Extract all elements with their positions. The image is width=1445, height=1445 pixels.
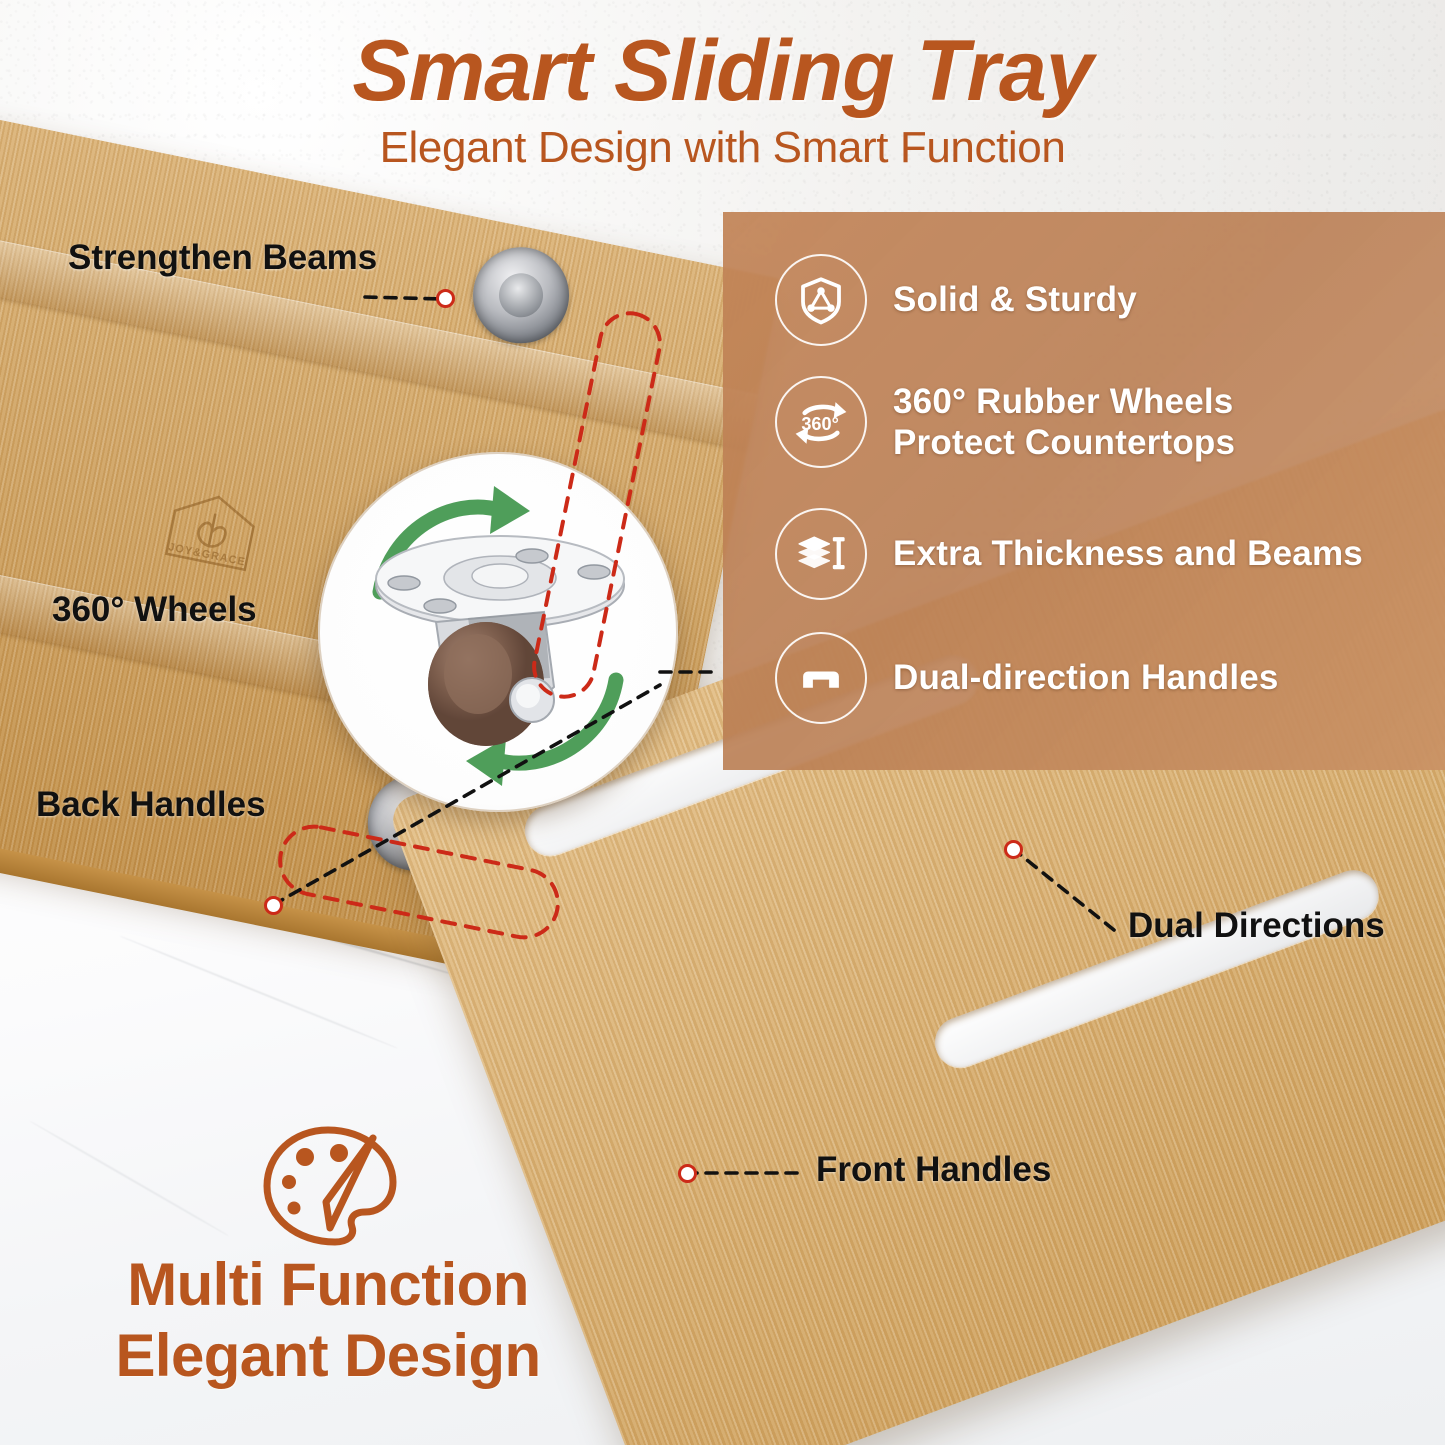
feature-item-solid-sturdy: Solid & Sturdy: [775, 254, 1137, 346]
rotate-360-icon: 360°: [775, 376, 867, 468]
caster-mount-plate: [376, 536, 624, 628]
title-main: Smart Sliding Tray: [0, 22, 1445, 121]
shield-icon: [775, 254, 867, 346]
callout-dual-directions: Dual Directions: [1128, 906, 1385, 946]
callout-wheels-360: 360° Wheels: [52, 590, 257, 630]
layers-thickness-icon: [775, 508, 867, 600]
feature-label: Extra Thickness and Beams: [893, 533, 1363, 574]
footer-line-2: Elegant Design: [48, 1321, 608, 1392]
caster-wheel-top-right: [464, 239, 577, 352]
feature-label: Dual-direction Handles: [893, 657, 1279, 698]
marker-strengthen-beams: [436, 289, 455, 308]
feature-panel: Solid & Sturdy 360° 360° Rubber Wheels P…: [723, 212, 1445, 770]
marker-back-handles: [264, 896, 283, 915]
caster-fork-and-wheel: [428, 612, 554, 746]
feature-item-handles: Dual-direction Handles: [775, 632, 1279, 724]
marker-dual-directions: [1004, 840, 1023, 859]
marker-front-handles: [678, 1164, 697, 1183]
title-subtitle: Elegant Design with Smart Function: [0, 123, 1445, 173]
callout-strengthen-beams: Strengthen Beams: [68, 238, 377, 278]
footer-line-1: Multi Function: [48, 1250, 608, 1321]
brand-engraving: JOY&GRACE: [142, 477, 279, 595]
caster-wheel-magnifier: [318, 452, 678, 812]
callout-front-handles: Front Handles: [816, 1150, 1051, 1190]
palette-icon: [48, 1120, 608, 1250]
handle-icon: [775, 632, 867, 724]
handle-slot-rear: [928, 863, 1386, 1074]
feature-label: 360° Rubber Wheels Protect Countertops: [893, 381, 1235, 464]
infographic-canvas: JOY&GRACE: [0, 0, 1445, 1445]
feature-label: Solid & Sturdy: [893, 279, 1137, 320]
feature-item-360-wheels: 360° 360° Rubber Wheels Protect Countert…: [775, 376, 1235, 468]
feature-item-thickness: Extra Thickness and Beams: [775, 508, 1363, 600]
callout-back-handles: Back Handles: [36, 785, 266, 825]
badge-360-text: 360°: [801, 414, 838, 434]
footer-block: Multi Function Elegant Design: [48, 1120, 608, 1392]
page-title: Smart Sliding Tray Elegant Design with S…: [0, 22, 1445, 173]
